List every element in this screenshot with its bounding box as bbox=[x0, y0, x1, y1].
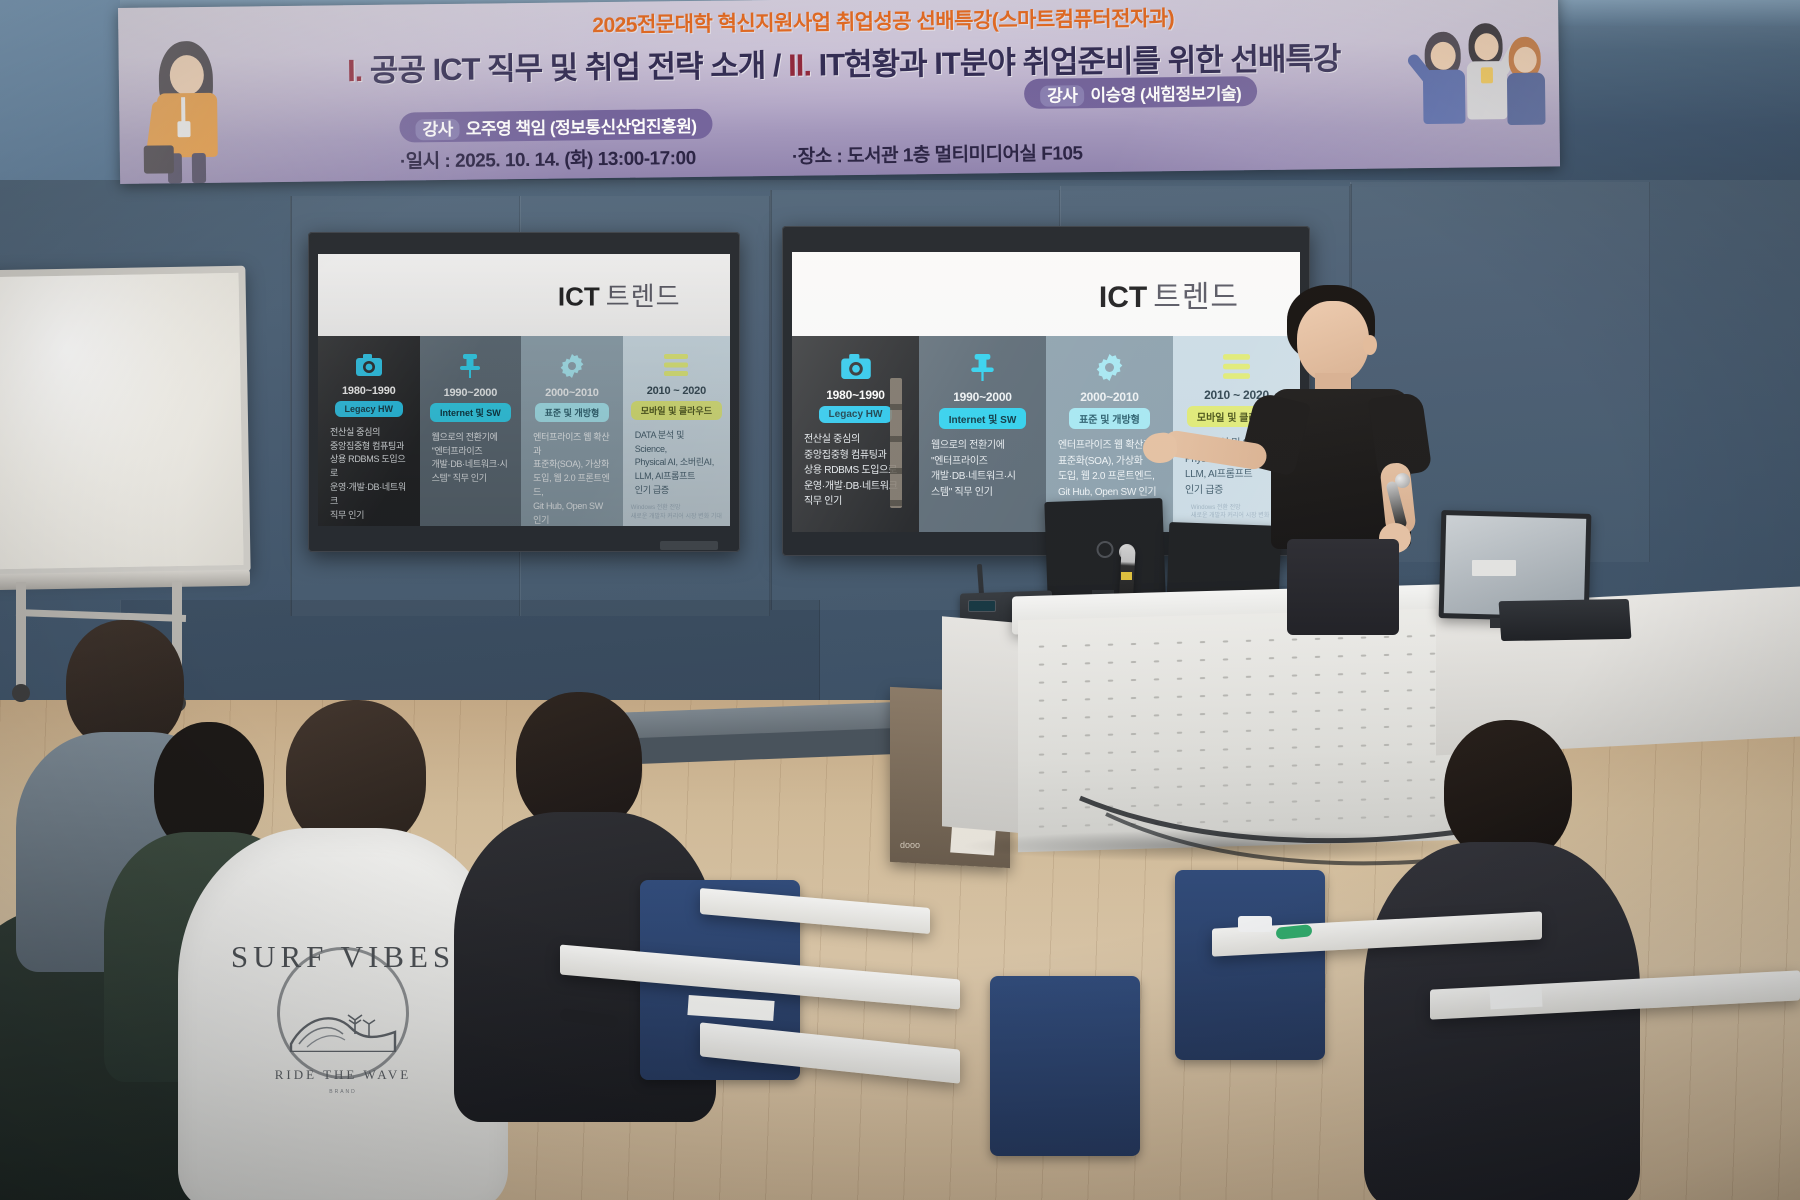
banner-place: ·장소 : 도서관 1층 멀티미디어실 F105 bbox=[792, 138, 1083, 169]
badge-label: Internet 및 SW bbox=[430, 403, 511, 422]
audience-head bbox=[516, 692, 642, 832]
badge-label: 표준 및 개방형 bbox=[1069, 408, 1150, 429]
dell-circle-logo bbox=[1096, 541, 1114, 559]
badge-label: 표준 및 개방형 bbox=[535, 403, 610, 422]
column-body: DATA 분석 및 Science, Physical AI, 소버린AI, L… bbox=[631, 429, 722, 499]
left-display-bezel: ICT트렌드 1980~1990 Legacy HW 전산실 중심의 중앙집중형… bbox=[308, 232, 740, 552]
slide-columns: 1980~1990 Legacy HW 전산실 중심의 중앙집중형 컴퓨팅과 상… bbox=[318, 336, 730, 526]
banner-date: ·일시 : 2025. 10. 14. (화) 13:00-17:00 bbox=[400, 143, 696, 174]
slide-right: ICT트렌드 1980~1990 Legacy HW 전산실 중심의 중앙집중형… bbox=[792, 252, 1300, 532]
audience-head bbox=[1444, 720, 1572, 862]
event-banner: 2025전문대학 혁신지원사업 취업성공 선배특강(스마트컴퓨터전자과) I. … bbox=[118, 0, 1560, 184]
left-display-screen[interactable]: ICT트렌드 1980~1990 Legacy HW 전산실 중심의 중앙집중형… bbox=[318, 254, 730, 526]
presenter-lower-body bbox=[1287, 539, 1399, 635]
shirt-sub-text: BRAND bbox=[329, 1089, 357, 1095]
whiteboard-caster bbox=[12, 684, 30, 702]
presenter-ear bbox=[1363, 335, 1377, 355]
camera-icon bbox=[841, 354, 871, 384]
banner-title-part2: IT현황과 IT분야 취업준비를 위한 선배특강 bbox=[818, 41, 1340, 82]
speaker-2-name: 이승영 (새힘정보기술) bbox=[1090, 84, 1241, 105]
podium-monitor[interactable] bbox=[1044, 498, 1165, 600]
slide-title: ICT트렌드 bbox=[558, 276, 681, 313]
list-icon bbox=[664, 354, 688, 381]
shirt-top-text: SURF VIBES bbox=[231, 939, 455, 975]
pin-icon bbox=[970, 354, 995, 386]
badge-label: Legacy HW bbox=[335, 401, 404, 417]
column-body: 전산실 중심의 중앙집중형 컴퓨팅과 상용 RDBMS 도입으로 운영·개발·D… bbox=[326, 426, 412, 524]
gear-icon bbox=[560, 354, 584, 383]
slide-column-1: 1980~1990 Legacy HW 전산실 중심의 중앙집중형 컴퓨팅과 상… bbox=[318, 336, 420, 526]
speaker-1-label: 강사 bbox=[415, 119, 460, 141]
wave-illustration bbox=[289, 1004, 397, 1052]
banner-separator: / bbox=[773, 48, 781, 83]
badge-label: 모바일 및 클라우드 bbox=[631, 401, 722, 420]
slide-column-2: 1990~2000 Internet 및 SW 웹으로의 전환기에 "엔터프라이… bbox=[919, 336, 1046, 532]
column-body: 웹으로의 전환기에 "엔터프라이즈 개발·DB·네트워크·시 스템" 직무 인기 bbox=[927, 438, 1038, 500]
slide-column-4: 2010 ~ 2020 모바일 및 클라우드 DATA 분석 및 Science… bbox=[623, 336, 730, 526]
era-label: 1990~2000 bbox=[444, 387, 498, 399]
speaker-1-name: 오주영 책임 (정보통신산업진흥원) bbox=[466, 117, 697, 139]
era-label: 2000~2010 bbox=[545, 387, 599, 399]
badge-label: Legacy HW bbox=[819, 406, 893, 423]
lecture-hall-scene: 2025전문대학 혁신지원사업 취업성공 선배특강(스마트컴퓨터전자과) I. … bbox=[0, 0, 1800, 1200]
audience-body bbox=[1364, 842, 1640, 1200]
slide-title-en: ICT bbox=[1099, 281, 1147, 314]
desk-item-paper[interactable] bbox=[1489, 985, 1542, 1010]
left-display-ir-bar bbox=[660, 541, 718, 550]
badge-label: Internet 및 SW bbox=[939, 408, 1027, 429]
wall-seam bbox=[770, 190, 772, 610]
banner-mascot-right bbox=[1418, 7, 1550, 159]
era-label: 2010 ~ 2020 bbox=[647, 385, 706, 397]
slide-title: ICT트렌드 bbox=[1099, 272, 1239, 316]
speaker-2-label: 강사 bbox=[1040, 85, 1085, 107]
chair bbox=[1175, 870, 1325, 1060]
camera-icon bbox=[356, 354, 382, 381]
bag-brand-text: dooo bbox=[900, 840, 920, 850]
banner-numeral-2: II. bbox=[788, 48, 811, 83]
slide-header: ICT트렌드 bbox=[792, 252, 1300, 336]
pin-icon bbox=[459, 354, 481, 383]
chair bbox=[990, 976, 1140, 1156]
slide-title-kr: 트렌드 bbox=[606, 282, 681, 311]
shirt-graphic: SURF VIBES RIDE THE WAVE BRAND bbox=[248, 935, 438, 1085]
era-label: 1990~2000 bbox=[953, 390, 1012, 404]
slide-title-en: ICT bbox=[558, 281, 600, 311]
slide-header: ICT트렌드 bbox=[318, 254, 730, 336]
wall-seam bbox=[290, 196, 292, 616]
column-note: Windows 전환 전망 새로운 개발자 커리어 시장 변화 기대 bbox=[631, 504, 722, 521]
whiteboard-leg bbox=[16, 582, 26, 690]
slide-title-kr: 트렌드 bbox=[1153, 281, 1239, 314]
banner-speaker-2: 강사이승영 (새힘정보기술) bbox=[1024, 76, 1257, 109]
presenter-head bbox=[1297, 301, 1369, 383]
gear-icon bbox=[1096, 354, 1123, 386]
desk-item-eraser[interactable] bbox=[1238, 916, 1272, 932]
receiver-display bbox=[968, 600, 996, 612]
right-display-side-buttons[interactable] bbox=[890, 378, 902, 508]
right-display-screen[interactable]: ICT트렌드 1980~1990 Legacy HW 전산실 중심의 중앙집중형… bbox=[792, 252, 1300, 532]
banner-main-title: I. 공공 ICT 직무 및 취업 전략 소개 / II. IT현황과 IT분야… bbox=[198, 31, 1488, 92]
column-body: 웹으로의 전환기에 "엔터프라이즈 개발·DB·네트워크·시 스템" 직무 인기 bbox=[428, 431, 514, 487]
slide-column-3: 2000~2010 표준 및 개방형 엔터프라이즈 웹 확산과 표준화(SOA)… bbox=[521, 336, 623, 526]
era-label: 1980~1990 bbox=[826, 388, 885, 402]
era-label: 1980~1990 bbox=[342, 385, 396, 397]
presenter bbox=[1245, 285, 1465, 635]
microphone-band bbox=[1121, 572, 1132, 580]
banner-numeral-1: I. bbox=[347, 53, 363, 88]
banner-speaker-1: 강사오주영 책임 (정보통신산업진흥원) bbox=[399, 109, 712, 143]
podium-side-shelf bbox=[942, 616, 1028, 834]
era-label: 2000~2010 bbox=[1080, 390, 1139, 404]
slide-left: ICT트렌드 1980~1990 Legacy HW 전산실 중심의 중앙집중형… bbox=[318, 254, 730, 526]
banner-title-part1: 공공 ICT 직무 및 취업 전략 소개 bbox=[370, 48, 766, 88]
whiteboard bbox=[0, 266, 251, 577]
side-monitor-label bbox=[1472, 560, 1516, 576]
whiteboard-surface bbox=[0, 273, 244, 569]
keyboard[interactable] bbox=[1499, 599, 1632, 641]
column-body: 엔터프라이즈 웹 확산과 표준화(SOA), 가상화 도입, 웹 2.0 프론트… bbox=[529, 431, 615, 526]
audience-member bbox=[1370, 720, 1630, 1200]
shirt-bottom-text: RIDE THE WAVE bbox=[275, 1067, 412, 1083]
slide-column-2: 1990~2000 Internet 및 SW 웹으로의 전환기에 "엔터프라이… bbox=[420, 336, 522, 526]
